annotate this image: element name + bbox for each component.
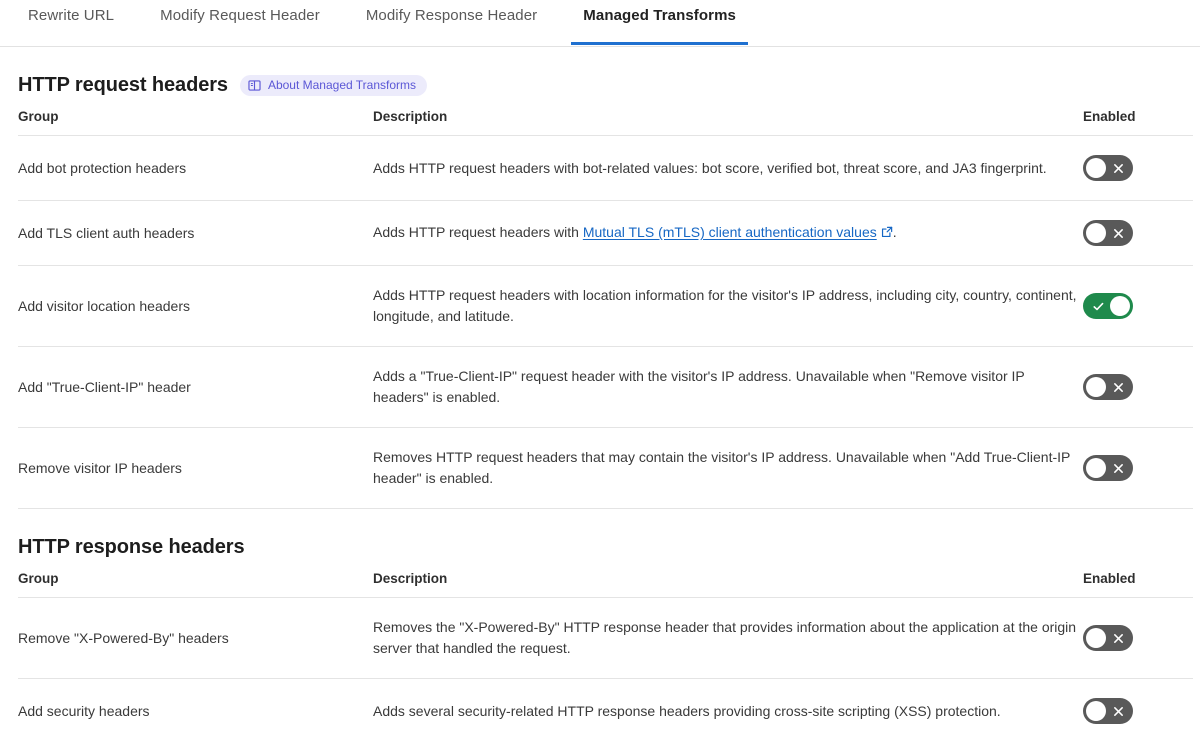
close-icon [1113, 155, 1124, 181]
description-text-after: . [893, 224, 897, 240]
row-description: Adds HTTP request headers with Mutual TL… [373, 201, 1083, 266]
row-enabled-cell [1083, 598, 1193, 679]
tab-bar: Rewrite URL Modify Request Header Modify… [0, 0, 1200, 47]
column-header-group: Group [18, 105, 373, 136]
column-header-description: Description [373, 567, 1083, 598]
tab-modify-response-header[interactable]: Modify Response Header [366, 0, 537, 45]
row-description: Adds a "True-Client-IP" request header w… [373, 347, 1083, 428]
check-icon [1092, 293, 1105, 319]
row-enabled-cell [1083, 266, 1193, 347]
book-icon [248, 79, 261, 92]
row-group-name: Add TLS client auth headers [18, 201, 373, 266]
section-title: HTTP response headers [18, 536, 245, 559]
section-http-response-headers: HTTP response headers Group Description … [0, 509, 1200, 742]
toggle-knob [1086, 458, 1106, 478]
toggle-knob [1086, 377, 1106, 397]
toggle-add-security-headers[interactable] [1083, 698, 1133, 724]
table-row: Add bot protection headers Adds HTTP req… [18, 136, 1193, 201]
tab-modify-request-header[interactable]: Modify Request Header [160, 0, 320, 45]
row-enabled-cell [1083, 428, 1193, 509]
table-row: Add visitor location headers Adds HTTP r… [18, 266, 1193, 347]
toggle-knob [1086, 158, 1106, 178]
row-enabled-cell [1083, 201, 1193, 266]
toggle-add-tls-client-auth-headers[interactable] [1083, 220, 1133, 246]
close-icon [1113, 455, 1124, 481]
close-icon [1113, 220, 1124, 246]
external-link-icon[interactable] [881, 223, 893, 244]
toggle-knob [1110, 296, 1130, 316]
row-description: Removes HTTP request headers that may co… [373, 428, 1083, 509]
table-row: Add security headers Adds several securi… [18, 679, 1193, 742]
section-header: HTTP request headers About Managed Trans… [18, 47, 1193, 105]
description-text-before: Adds HTTP request headers with [373, 224, 583, 240]
table-row: Remove "X-Powered-By" headers Removes th… [18, 598, 1193, 679]
about-managed-transforms-badge[interactable]: About Managed Transforms [240, 75, 427, 96]
table-row: Add "True-Client-IP" header Adds a "True… [18, 347, 1193, 428]
row-enabled-cell [1083, 136, 1193, 201]
toggle-remove-x-powered-by-headers[interactable] [1083, 625, 1133, 651]
toggle-knob [1086, 223, 1106, 243]
row-description: Adds several security-related HTTP respo… [373, 679, 1083, 742]
section-http-request-headers: HTTP request headers About Managed Trans… [0, 47, 1200, 509]
response-headers-table: Group Description Enabled Remove "X-Powe… [18, 567, 1193, 742]
tab-rewrite-url[interactable]: Rewrite URL [28, 0, 114, 45]
row-group-name: Add bot protection headers [18, 136, 373, 201]
close-icon [1113, 374, 1124, 400]
close-icon [1113, 625, 1124, 651]
row-description: Adds HTTP request headers with location … [373, 266, 1083, 347]
row-group-name: Add "True-Client-IP" header [18, 347, 373, 428]
toggle-remove-visitor-ip-headers[interactable] [1083, 455, 1133, 481]
toggle-add-true-client-ip-header[interactable] [1083, 374, 1133, 400]
table-header-row: Group Description Enabled [18, 105, 1193, 136]
mtls-documentation-link[interactable]: Mutual TLS (mTLS) client authentication … [583, 224, 877, 240]
toggle-add-bot-protection-headers[interactable] [1083, 155, 1133, 181]
table-row: Add TLS client auth headers Adds HTTP re… [18, 201, 1193, 266]
row-description: Removes the "X-Powered-By" HTTP response… [373, 598, 1083, 679]
table-header-row: Group Description Enabled [18, 567, 1193, 598]
about-badge-label: About Managed Transforms [268, 78, 416, 93]
column-header-enabled: Enabled [1083, 105, 1193, 136]
row-group-name: Add security headers [18, 679, 373, 742]
table-row: Remove visitor IP headers Removes HTTP r… [18, 428, 1193, 509]
request-headers-table: Group Description Enabled Add bot protec… [18, 105, 1193, 509]
toggle-add-visitor-location-headers[interactable] [1083, 293, 1133, 319]
section-title: HTTP request headers [18, 74, 228, 97]
section-header: HTTP response headers [18, 509, 1193, 567]
row-enabled-cell [1083, 347, 1193, 428]
row-group-name: Remove "X-Powered-By" headers [18, 598, 373, 679]
toggle-knob [1086, 701, 1106, 721]
toggle-knob [1086, 628, 1106, 648]
column-header-enabled: Enabled [1083, 567, 1193, 598]
row-group-name: Add visitor location headers [18, 266, 373, 347]
column-header-description: Description [373, 105, 1083, 136]
row-description: Adds HTTP request headers with bot-relat… [373, 136, 1083, 201]
column-header-group: Group [18, 567, 373, 598]
row-enabled-cell [1083, 679, 1193, 742]
row-group-name: Remove visitor IP headers [18, 428, 373, 509]
close-icon [1113, 698, 1124, 724]
tab-managed-transforms[interactable]: Managed Transforms [583, 0, 736, 45]
